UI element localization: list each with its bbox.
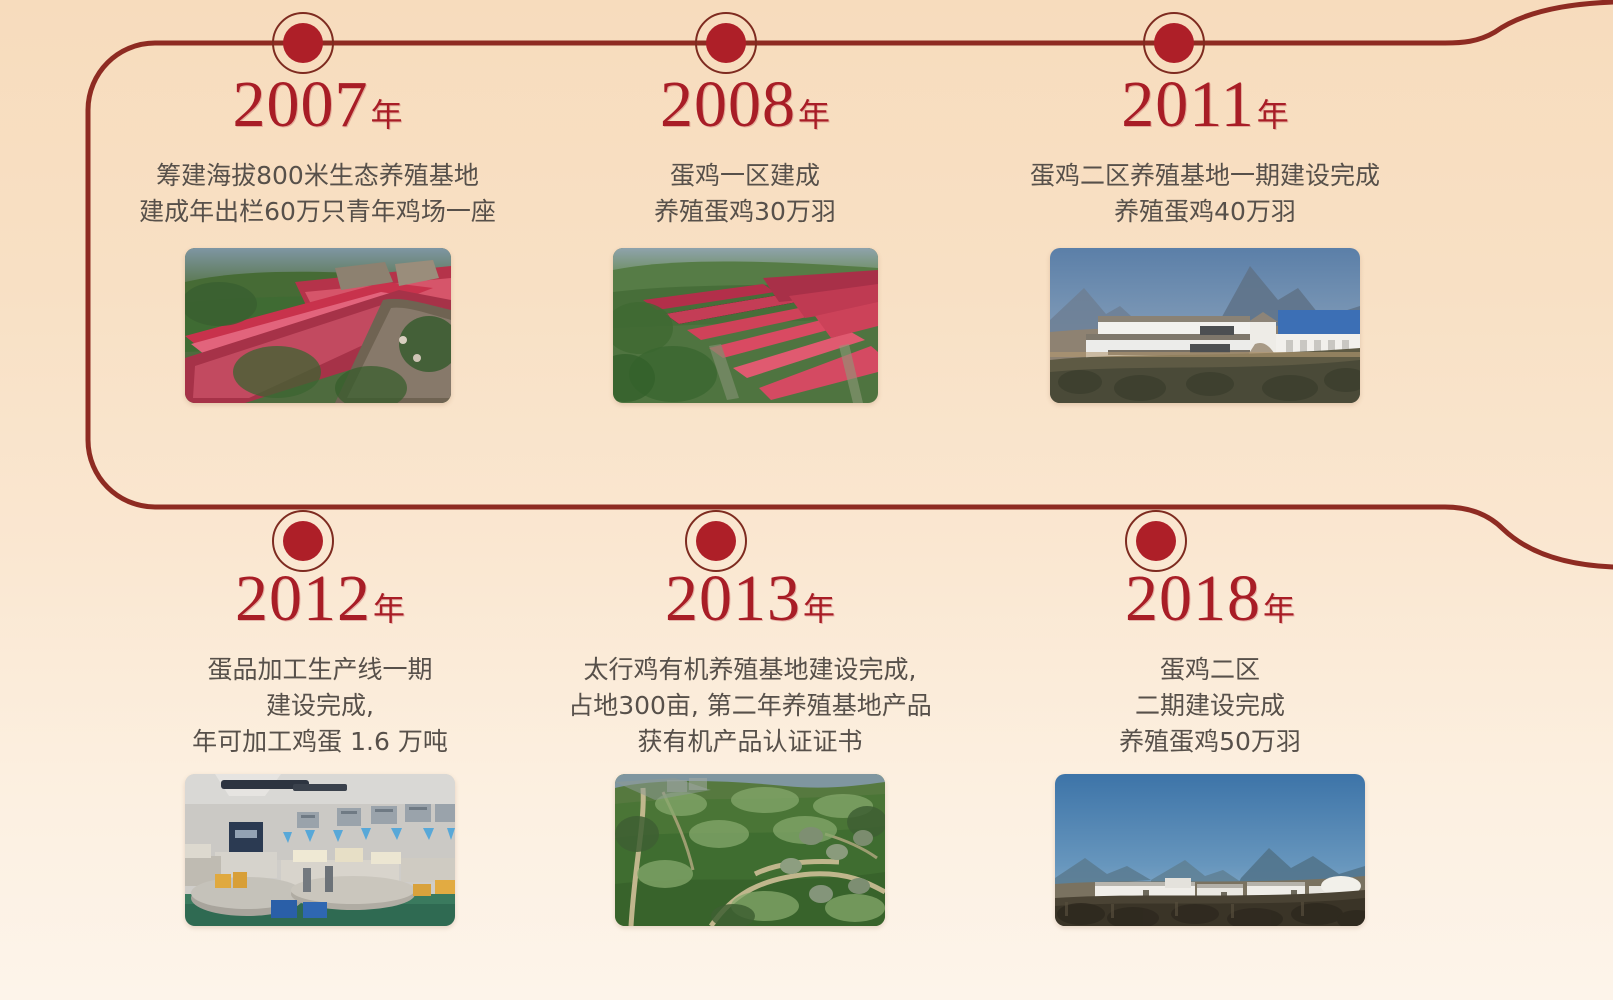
milestone-year: 2012年 [235,566,405,632]
timeline-dot-icon[interactable] [1125,510,1187,572]
description-line: 二期建设完成 [1119,688,1301,724]
milestone-year: 2011年 [1121,72,1289,138]
description-line: 养殖蛋鸡30万羽 [654,194,836,230]
milestone-photo [1055,774,1365,926]
description-line: 建成年出栏60万只青年鸡场一座 [139,194,496,230]
milestone-year: 2018年 [1125,566,1295,632]
year-number: 2008 [660,68,796,141]
description-line: 年可加工鸡蛋 1.6 万吨 [192,724,448,760]
year-suffix: 年 [1257,96,1289,134]
milestone-2011[interactable]: 2011年 蛋鸡二区养殖基地一期建设完成 养殖蛋鸡40万羽 [940,0,1470,500]
milestone-photo [185,774,455,926]
description-line: 建设完成, [192,688,448,724]
milestone-photo [1050,248,1360,403]
milestone-photo [185,248,451,403]
description-line: 蛋鸡二区养殖基地一期建设完成 [1030,158,1380,194]
milestone-2018[interactable]: 2018年 蛋鸡二区 二期建设完成 养殖蛋鸡50万羽 [970,500,1450,1000]
year-number: 2018 [1125,562,1261,635]
description-line: 养殖蛋鸡40万羽 [1030,194,1380,230]
milestone-2008[interactable]: 2008年 蛋鸡一区建成 养殖蛋鸡30万羽 [550,0,940,500]
timeline-dot-icon[interactable] [272,12,334,74]
timeline-dot-icon[interactable] [1143,12,1205,74]
milestone-year: 2008年 [660,72,830,138]
milestone-description: 蛋鸡二区养殖基地一期建设完成 养殖蛋鸡40万羽 [1030,158,1380,230]
description-line: 蛋鸡一区建成 [654,158,836,194]
milestone-description: 蛋鸡二区 二期建设完成 养殖蛋鸡50万羽 [1119,652,1301,760]
year-number: 2012 [235,562,371,635]
milestone-description: 太行鸡有机养殖基地建设完成, 占地300亩, 第二年养殖基地产品 获有机产品认证… [568,652,932,760]
description-line: 获有机产品认证证书 [568,724,932,760]
timeline-dot-icon[interactable] [272,510,334,572]
description-line: 筹建海拔800米生态养殖基地 [139,158,496,194]
milestone-2012[interactable]: 2012年 蛋品加工生产线一期 建设完成, 年可加工鸡蛋 1.6 万吨 [110,500,530,1000]
milestone-description: 筹建海拔800米生态养殖基地 建成年出栏60万只青年鸡场一座 [139,158,496,230]
description-line: 占地300亩, 第二年养殖基地产品 [568,688,932,724]
description-line: 太行鸡有机养殖基地建设完成, [568,652,932,688]
milestone-year: 2013年 [665,566,835,632]
year-suffix: 年 [798,96,830,134]
year-suffix: 年 [803,590,835,628]
milestone-2007[interactable]: 2007年 筹建海拔800米生态养殖基地 建成年出栏60万只青年鸡场一座 [85,0,550,500]
milestone-2013[interactable]: 2013年 太行鸡有机养殖基地建设完成, 占地300亩, 第二年养殖基地产品 获… [530,500,970,1000]
year-number: 2007 [232,68,368,141]
year-number: 2011 [1121,68,1255,141]
year-suffix: 年 [373,590,405,628]
timeline-row-top: 2007年 筹建海拔800米生态养殖基地 建成年出栏60万只青年鸡场一座 [0,0,1613,500]
timeline-dot-icon[interactable] [695,12,757,74]
description-line: 蛋品加工生产线一期 [192,652,448,688]
year-suffix: 年 [370,96,402,134]
milestone-description: 蛋鸡一区建成 养殖蛋鸡30万羽 [654,158,836,230]
year-number: 2013 [665,562,801,635]
milestone-photo [613,248,878,403]
milestone-description: 蛋品加工生产线一期 建设完成, 年可加工鸡蛋 1.6 万吨 [192,652,448,760]
timeline-dot-icon[interactable] [685,510,747,572]
milestone-photo [615,774,885,926]
milestone-year: 2007年 [232,72,402,138]
description-line: 蛋鸡二区 [1119,652,1301,688]
description-line: 养殖蛋鸡50万羽 [1119,724,1301,760]
timeline-row-bottom: 2012年 蛋品加工生产线一期 建设完成, 年可加工鸡蛋 1.6 万吨 [0,500,1613,1000]
timeline-infographic: 2007年 筹建海拔800米生态养殖基地 建成年出栏60万只青年鸡场一座 [0,0,1613,1000]
year-suffix: 年 [1263,590,1295,628]
